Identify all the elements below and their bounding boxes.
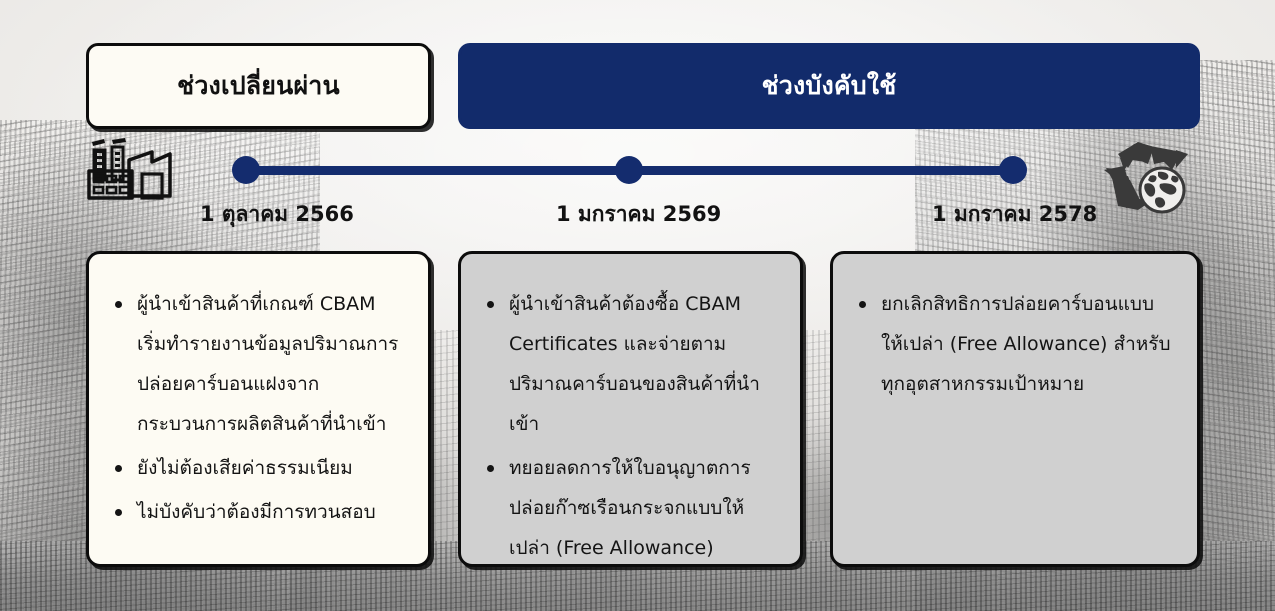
list-item: ทยอยลดการให้ใบอนุญาตการปล่อยก๊าซเรือนกระ… (481, 448, 778, 568)
card-enforcement-2578: ยกเลิกสิทธิการปล่อยคาร์บอนแบบให้เปล่า (F… (830, 251, 1200, 567)
banner-enforcement-label: ช่วงบังคับใช้ (762, 71, 897, 101)
timeline-dot-3 (999, 156, 1027, 184)
recycle-globe-icon (1098, 136, 1194, 216)
timeline-date-1: 1 ตุลาคม 2566 (200, 198, 354, 231)
list-item: ยกเลิกสิทธิการปล่อยคาร์บอนแบบให้เปล่า (F… (853, 284, 1175, 404)
banner-enforcement-period: ช่วงบังคับใช้ (458, 43, 1200, 129)
banner-transition-period: ช่วงเปลี่ยนผ่าน (86, 43, 431, 129)
bullet-list-card-3: ยกเลิกสิทธิการปล่อยคาร์บอนแบบให้เปล่า (F… (853, 284, 1175, 404)
list-item: ผู้นำเข้าสินค้าต้องซื้อ CBAM Certificate… (481, 284, 778, 444)
card-enforcement-2569: ผู้นำเข้าสินค้าต้องซื้อ CBAM Certificate… (458, 251, 803, 567)
bullet-list-card-2: ผู้นำเข้าสินค้าต้องซื้อ CBAM Certificate… (481, 284, 778, 568)
bullet-list-card-1: ผู้นำเข้าสินค้าที่เกณฑ์ CBAM เริ่มทำรายง… (109, 284, 406, 532)
timeline-date-2: 1 มกราคม 2569 (556, 198, 721, 231)
list-item: ไม่บังคับว่าต้องมีการทวนสอบ (109, 492, 406, 532)
timeline-dot-2 (615, 156, 643, 184)
list-item: ยังไม่ต้องเสียค่าธรรมเนียม (109, 448, 406, 488)
factory-icon (84, 138, 172, 202)
timeline-date-3: 1 มกราคม 2578 (932, 198, 1097, 231)
banner-transition-label: ช่วงเปลี่ยนผ่าน (177, 71, 340, 101)
slide-canvas: ช่วงเปลี่ยนผ่าน ช่วงบังคับใช้ (0, 0, 1275, 611)
timeline-dot-1 (232, 156, 260, 184)
card-transition-period: ผู้นำเข้าสินค้าที่เกณฑ์ CBAM เริ่มทำรายง… (86, 251, 431, 567)
list-item: ผู้นำเข้าสินค้าที่เกณฑ์ CBAM เริ่มทำรายง… (109, 284, 406, 444)
